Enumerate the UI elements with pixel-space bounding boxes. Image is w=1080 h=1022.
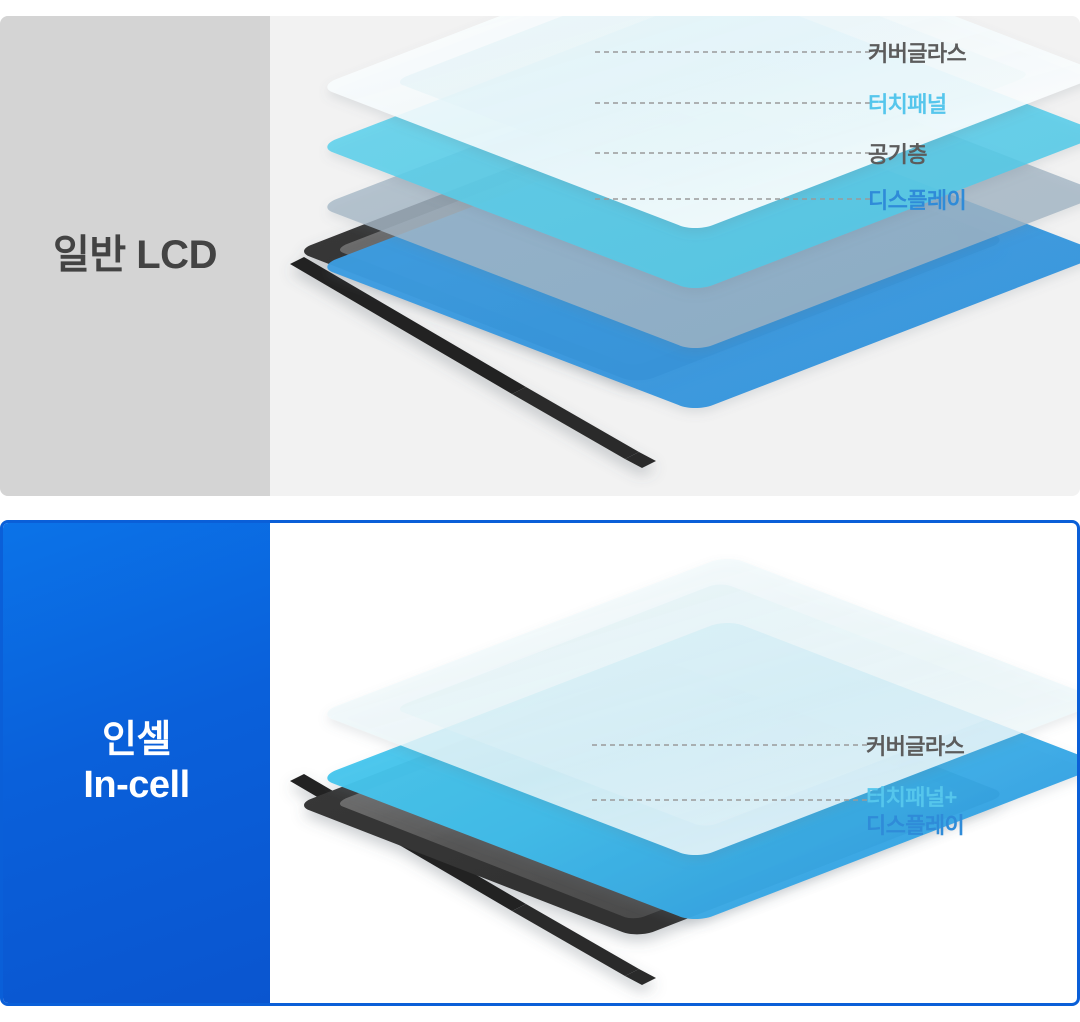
- lcd-layer-stack-svg: [270, 16, 1080, 496]
- panel-lcd-illustration: 커버글라스 터치패널 공기층 디스플레이: [270, 16, 1080, 496]
- diagram-stage: 일반 LCD: [0, 0, 1080, 1022]
- panel-lcd-title-bar: 일반 LCD: [0, 16, 270, 496]
- panel-incell-title-bar: 인셀 In-cell: [3, 523, 270, 1003]
- panel-incell-title-line2: In-cell: [83, 763, 189, 808]
- panel-lcd: 일반 LCD: [0, 16, 1080, 496]
- panel-incell-title: 인셀 In-cell: [83, 718, 189, 808]
- panel-lcd-title-line1: 일반 LCD: [53, 233, 217, 277]
- incell-layer-stack-svg: [270, 523, 1077, 1003]
- panel-incell-title-line1: 인셀: [102, 719, 171, 761]
- panel-incell-illustration: 커버글라스 터치패널+ 디스플레이: [270, 523, 1077, 1003]
- panel-incell: 인셀 In-cell: [0, 520, 1080, 1006]
- panel-lcd-title: 일반 LCD: [53, 232, 217, 279]
